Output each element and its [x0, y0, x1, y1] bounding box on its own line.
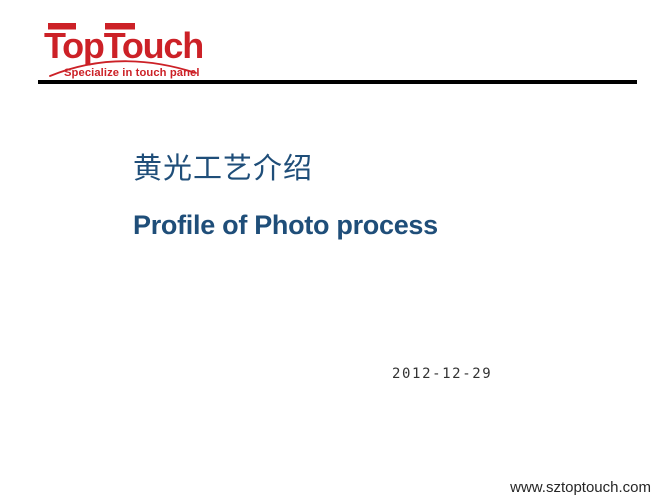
logo-tagline: Specialize in touch panel — [64, 67, 200, 79]
title-english: Profile of Photo process — [133, 207, 593, 243]
title-block: 黄光工艺介绍 Profile of Photo process — [133, 148, 593, 243]
header-divider — [38, 80, 637, 84]
footer-website-url: www.sztoptouch.com — [510, 479, 651, 496]
logo-wordmark: TopTouch — [44, 25, 203, 66]
title-slide: TopTouch Specialize in touch panel 黄光工艺介… — [0, 0, 668, 502]
toptouch-logo: TopTouch Specialize in touch panel — [44, 18, 224, 80]
title-chinese: 黄光工艺介绍 — [133, 148, 593, 188]
slide-date: 2012-12-29 — [392, 366, 492, 382]
logo-graphic: TopTouch Specialize in touch panel — [44, 18, 224, 80]
